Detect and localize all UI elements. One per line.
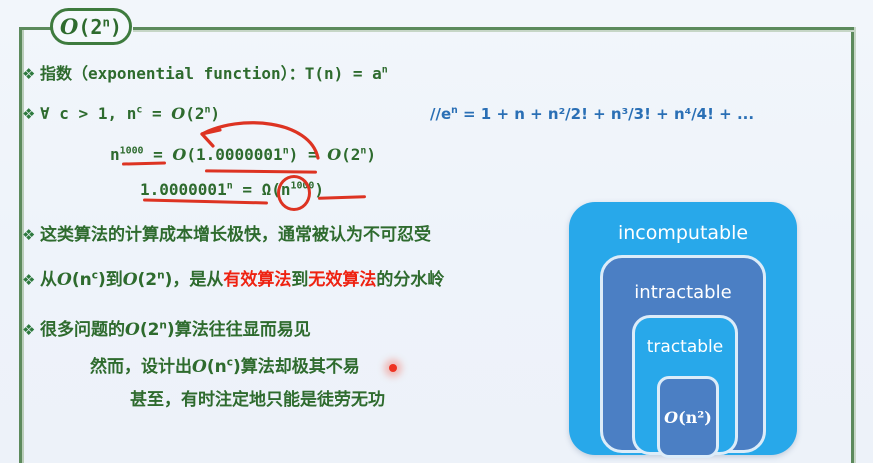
- line4-lhs-value: 1.0000001: [140, 180, 227, 199]
- comment-body: = 1 + n + n²/2! + n³/3! + n⁴/4! + ...: [458, 105, 754, 123]
- diagram-label-intractable: intractable: [603, 282, 763, 303]
- line6-seg2: (n: [72, 270, 92, 290]
- line2-rhs-base: (2: [185, 104, 204, 123]
- diagram-box-intractable: intractable tractable O(n²): [600, 255, 766, 453]
- bullet-line-watershed: ❖从O(nc)到O(2n)，是从有效算法到无效算法的分水岭: [22, 265, 444, 290]
- line7-seg3: )算法往往显而易见: [167, 320, 311, 340]
- diamond-bullet-icon: ❖: [22, 321, 40, 339]
- line2-bigoh-symbol: O: [171, 104, 185, 123]
- line6-seg5: )，是从: [165, 270, 224, 290]
- line8-seg1: 然而，设计出: [90, 357, 192, 377]
- red-circle-omega-annotation: [277, 175, 311, 211]
- diagram-box-on2: O(n²): [657, 376, 719, 458]
- diagram-label-on2: O(n²): [664, 408, 712, 427]
- line1-en-label: exponential function: [88, 64, 281, 83]
- line6-seg3: )到: [98, 270, 123, 290]
- line3-lhs-exponent: 1000: [120, 146, 144, 157]
- line3-mid-tail: ): [289, 145, 299, 164]
- frame-border-right: [851, 27, 854, 463]
- diamond-bullet-icon: ❖: [22, 226, 40, 244]
- bullet-line-exponential: ❖指数（exponential function）：T(n) = an: [22, 60, 388, 84]
- line2-lhs-base: n: [127, 104, 137, 123]
- line8-seg2: (n: [207, 357, 227, 377]
- red-underline-value-1: [205, 169, 317, 173]
- line1-equals: =: [353, 64, 363, 83]
- line6-exponent-2: n: [157, 269, 165, 281]
- line7-exponent: n: [159, 319, 167, 331]
- line6-highlight-effective: 有效算法: [223, 270, 291, 290]
- laser-pointer-dot: [389, 364, 397, 372]
- line3-bigoh-symbol-1: O: [172, 145, 186, 164]
- sub-line-however: 然而，设计出O(nc)算法却极其不易: [90, 352, 360, 377]
- bullet-line-obvious: ❖很多问题的O(2n)算法往往显而易见: [22, 315, 311, 340]
- diagram-on2-rest: (n²): [678, 408, 712, 427]
- line8-bigoh-symbol: O: [192, 357, 207, 377]
- line6-highlight-ineffective: 无效算法: [308, 270, 376, 290]
- line4-lhs-exponent: n: [227, 181, 233, 192]
- diagram-label-tractable: tractable: [635, 337, 735, 357]
- comment-taylor-series: //en = 1 + n + n²/2! + n³/3! + n⁴/4! + .…: [430, 105, 754, 123]
- diamond-bullet-icon: ❖: [22, 271, 40, 289]
- line1-paren-close: ）：: [281, 64, 305, 83]
- line2-equals: =: [152, 104, 162, 123]
- line3-equals-2: =: [308, 145, 318, 164]
- slide-title-text: O(2n): [60, 14, 122, 39]
- line1-paren-open: （: [72, 64, 88, 83]
- diagram-box-tractable: tractable O(n²): [632, 315, 738, 455]
- line3-mid-value: (1.0000001: [186, 145, 282, 164]
- diamond-bullet-icon: ❖: [22, 105, 40, 123]
- bullet-line-forall: ❖∀ c > 1, nc = O(2n): [22, 104, 220, 123]
- red-underline-n1000: [122, 161, 166, 165]
- slide-canvas: O(2n) ❖指数（exponential function）：T(n) = a…: [0, 0, 873, 463]
- line7-bigoh-symbol: O: [125, 320, 140, 340]
- line7-seg2: (2: [140, 320, 160, 340]
- complexity-class-diagram: incomputable intractable tractable O(n²): [569, 202, 797, 455]
- line5-text: 这类算法的计算成本增长极快，通常被认为不可忍受: [40, 225, 431, 245]
- line8-seg3: )算法却极其不易: [233, 357, 360, 377]
- bullet-line-cost-growth: ❖这类算法的计算成本增长极快，通常被认为不可忍受: [22, 220, 431, 245]
- comment-prefix-exponent: n: [451, 105, 458, 116]
- diamond-bullet-icon: ❖: [22, 65, 40, 83]
- line2-rhs-tail: ): [210, 104, 220, 123]
- line1-rhs-base: a: [372, 64, 382, 83]
- line7-seg1: 很多问题的: [40, 320, 125, 340]
- line6-seg1: 从: [40, 270, 57, 290]
- comment-prefix: //e: [430, 105, 451, 123]
- line6-seg7: 的分水岭: [376, 270, 444, 290]
- sub-line-futile: 甚至，有时注定地只能是徒劳无功: [130, 385, 385, 410]
- line1-lhs: T(n): [305, 64, 344, 83]
- line6-bigoh-symbol-1: O: [57, 270, 72, 290]
- line3-lhs-base: n: [110, 145, 120, 164]
- line3-rhs-tail: ): [366, 145, 376, 164]
- line3-bigoh-symbol-2: O: [327, 145, 341, 164]
- frame-border-top-right: [133, 27, 854, 30]
- line6-seg4: (2: [138, 270, 158, 290]
- line2-lhs-exponent: c: [136, 105, 142, 116]
- diagram-bigoh-symbol: O: [664, 408, 678, 427]
- line1-rhs-exponent: n: [382, 65, 388, 76]
- line2-condition: c > 1,: [59, 104, 117, 123]
- slide-title-badge: O(2n): [50, 8, 132, 45]
- line6-seg6: 到: [291, 270, 308, 290]
- line2-forall-symbol: ∀: [40, 104, 50, 123]
- line4-omega-symbol: Ω: [262, 180, 272, 199]
- red-underline-value-2: [143, 198, 268, 204]
- red-underline-n1000-second: [318, 195, 366, 200]
- frame-border-left: [19, 27, 22, 463]
- line6-bigoh-symbol-2: O: [123, 270, 138, 290]
- line4-equals: =: [242, 180, 252, 199]
- line1-cn-label: 指数: [40, 64, 72, 83]
- line3-rhs-value: (2: [341, 145, 360, 164]
- diagram-label-incomputable: incomputable: [569, 222, 797, 244]
